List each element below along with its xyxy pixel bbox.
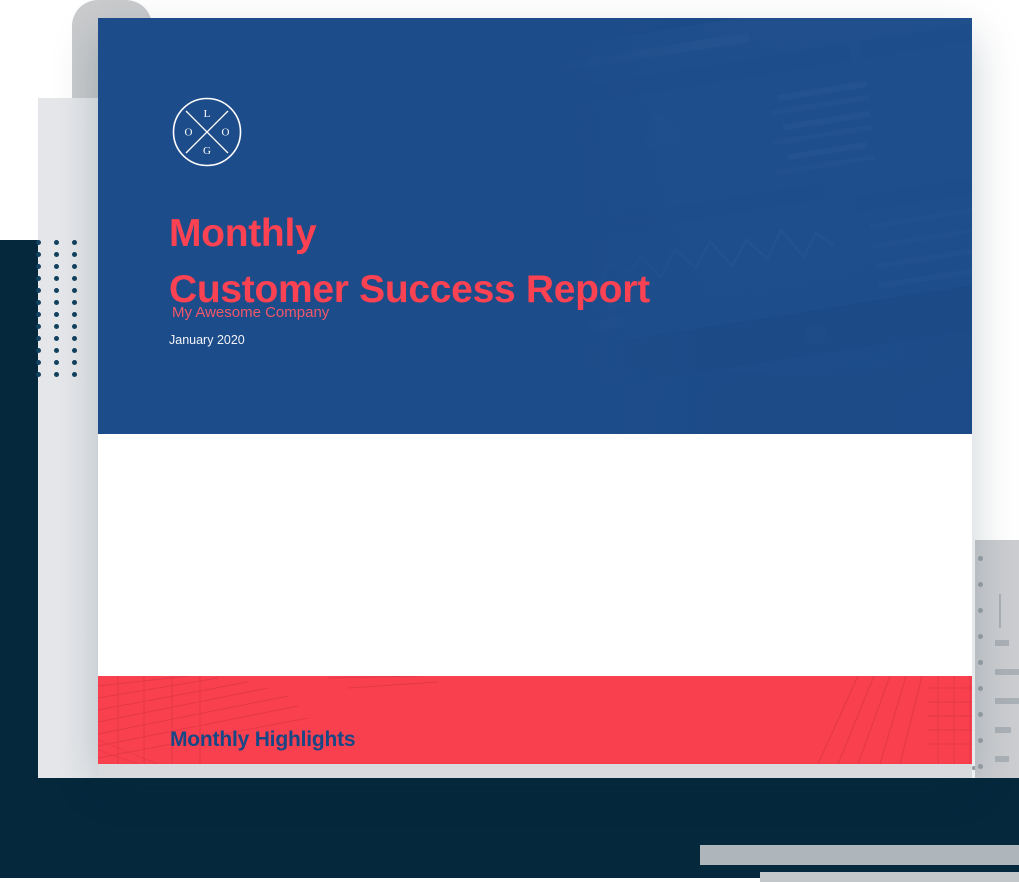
svg-text:O: O: [185, 127, 193, 139]
decor-dot: [978, 608, 983, 613]
decor-dot: [978, 582, 983, 587]
page-title-line-1: Monthly: [169, 212, 316, 255]
decor-dash: [995, 640, 1009, 646]
decor-dash: [995, 698, 1019, 704]
decor-dash: [995, 727, 1011, 733]
decor-dash: [995, 669, 1019, 675]
svg-text:L: L: [204, 108, 211, 120]
decor-line: [999, 594, 1001, 628]
report-card: L O G O Monthly Customer Success Report …: [98, 18, 972, 764]
page-title: Monthly Customer Success Report: [169, 206, 869, 318]
company-name: My Awesome Company: [172, 304, 329, 321]
svg-text:G: G: [203, 145, 211, 157]
decor-dash: [995, 756, 1009, 762]
decor-dot: [978, 634, 983, 639]
table-of-contents-section: Table of Contents Monthly HighlightsAcco…: [98, 434, 972, 676]
decor-bottom-bar-1: [700, 845, 1019, 865]
svg-text:O: O: [222, 127, 230, 139]
section-banner: Monthly Highlights: [98, 676, 972, 764]
decor-dot: [978, 738, 983, 743]
decor-dot: [978, 712, 983, 717]
decor-bottom-bar-2: [760, 872, 1019, 882]
card-footer-strip: [98, 764, 972, 778]
decor-dot: [978, 660, 983, 665]
logo-circle-x-icon: L O G O: [170, 95, 244, 169]
report-date: January 2020: [169, 333, 245, 347]
decor-dot: [978, 686, 983, 691]
decor-dot: [978, 764, 983, 769]
decor-dot: [978, 556, 983, 561]
section-banner-title: Monthly Highlights: [170, 728, 355, 752]
hero-section: L O G O Monthly Customer Success Report …: [98, 18, 972, 434]
